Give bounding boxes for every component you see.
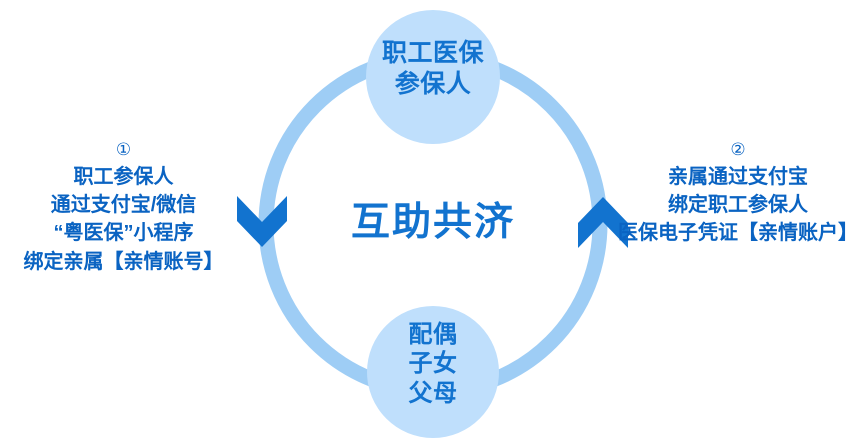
step-2-line-1: 亲属通过支付宝 — [611, 163, 865, 191]
top-node-line-2: 参保人 — [343, 69, 523, 100]
bottom-node-line-1: 配偶 — [358, 320, 508, 349]
relationship-diagram: 职工医保 参保人 互助共济 配偶 子女 父母 ① 职工参保人 通过支付宝/微信 … — [0, 0, 865, 441]
bottom-node-line-3: 父母 — [358, 379, 508, 408]
step-2-line-2: 绑定职工参保人 — [611, 191, 865, 219]
top-node-label: 职工医保 参保人 — [343, 38, 523, 99]
step-2-block: ② 亲属通过支付宝 绑定职工参保人 医保电子凭证【亲情账户】 — [611, 140, 865, 248]
step-1-badge: ① — [0, 140, 247, 160]
step-1-block: ① 职工参保人 通过支付宝/微信 “粤医保”小程序 绑定亲属【亲情账号】 — [0, 140, 247, 276]
bottom-node-label: 配偶 子女 父母 — [358, 320, 508, 408]
step-1-line-1: 职工参保人 — [0, 163, 247, 191]
step-1-line-4: 绑定亲属【亲情账号】 — [0, 248, 247, 276]
top-node-line-1: 职工医保 — [343, 38, 523, 69]
step-2-badge: ② — [611, 140, 865, 160]
bottom-node-line-2: 子女 — [358, 349, 508, 378]
step-1-line-3: “粤医保”小程序 — [0, 219, 247, 247]
step-2-line-3: 医保电子凭证【亲情账户】 — [611, 219, 865, 247]
step-1-line-2: 通过支付宝/微信 — [0, 191, 247, 219]
center-label: 互助共济 — [318, 191, 548, 247]
